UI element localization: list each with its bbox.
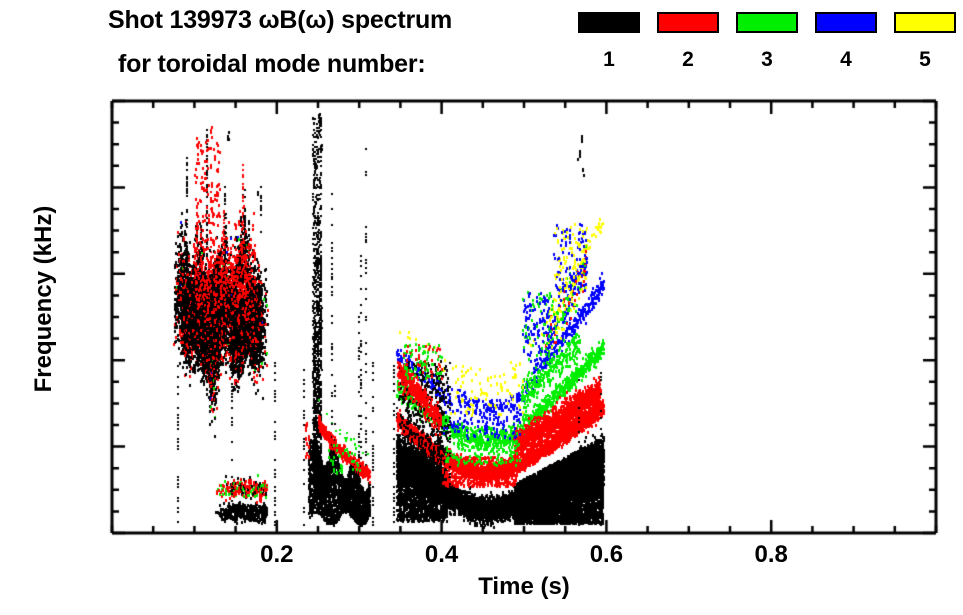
x-axis-tick-labels: 0.20.40.60.8 — [0, 0, 963, 615]
x-tick-0.2: 0.2 — [237, 543, 317, 567]
spectrogram-figure: Shot 139973 ωB(ω) spectrum for toroidal … — [0, 0, 963, 615]
x-axis-label: Time (s) — [112, 573, 936, 601]
y-axis-label: Frequency (kHz) — [30, 169, 58, 429]
x-tick-0.6: 0.6 — [566, 543, 646, 567]
x-tick-0.8: 0.8 — [731, 543, 811, 567]
x-tick-0.4: 0.4 — [402, 543, 482, 567]
